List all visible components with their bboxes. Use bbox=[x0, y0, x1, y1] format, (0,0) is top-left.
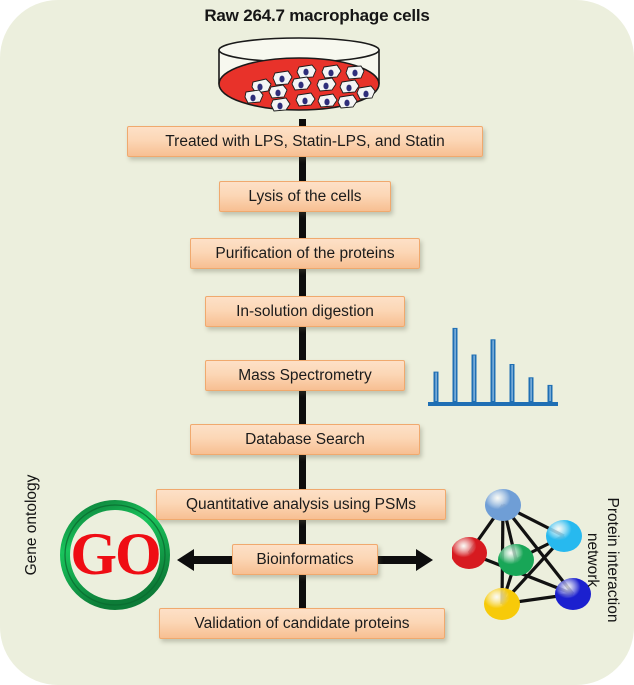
protein-network-label-line1: Protein interaction bbox=[602, 480, 622, 640]
protein-interaction-network bbox=[452, 482, 592, 624]
spectrum-peak-highlight bbox=[473, 356, 474, 402]
step-box-lysis[interactable]: Lysis of the cells bbox=[219, 181, 391, 212]
gene-ontology-label: Gene ontology bbox=[23, 467, 41, 583]
spectrum-peak-highlight bbox=[511, 365, 512, 401]
arrow-to-gene-ontology bbox=[176, 547, 232, 573]
page-title: Raw 264.7 macrophage cells bbox=[0, 6, 634, 26]
spectrum-peak-highlight bbox=[530, 378, 531, 401]
flow-connector bbox=[299, 327, 306, 362]
flow-connector bbox=[299, 269, 306, 298]
step-box-mass-spectrometry[interactable]: Mass Spectrometry bbox=[205, 360, 405, 391]
step-box-bioinformatics[interactable]: Bioinformatics bbox=[232, 544, 378, 575]
mass-spectrum-chart bbox=[428, 322, 558, 408]
step-box-quantitative-analysis[interactable]: Quantitative analysis using PSMs bbox=[156, 489, 446, 520]
node-yellow bbox=[484, 588, 520, 620]
spectrum-peak-highlight bbox=[454, 329, 455, 401]
step-box-treated[interactable]: Treated with LPS, Statin-LPS, and Statin bbox=[127, 126, 483, 157]
petri-dish-with-cells bbox=[215, 36, 383, 124]
flow-connector bbox=[299, 520, 306, 546]
node-blue-steel bbox=[485, 489, 521, 521]
spectrum-baseline bbox=[428, 402, 558, 406]
node-green bbox=[498, 544, 534, 576]
step-box-validation[interactable]: Validation of candidate proteins bbox=[159, 608, 445, 639]
step-box-purification[interactable]: Purification of the proteins bbox=[190, 238, 420, 269]
flow-connector bbox=[299, 157, 306, 183]
step-box-database-search[interactable]: Database Search bbox=[190, 424, 420, 455]
flow-connector bbox=[299, 212, 306, 240]
spectrum-peak-highlight bbox=[549, 386, 550, 401]
spectrum-peak-highlight bbox=[492, 340, 493, 401]
flow-connector bbox=[299, 575, 306, 610]
protein-network-label: Protein interaction network bbox=[582, 480, 622, 640]
protein-network-label-line2: network bbox=[582, 480, 602, 640]
node-red bbox=[452, 537, 487, 569]
gene-ontology-logo-text: GO bbox=[57, 497, 173, 613]
arrow-to-protein-network bbox=[378, 547, 434, 573]
gene-ontology-logo: GO bbox=[57, 497, 173, 613]
flow-connector bbox=[299, 455, 306, 491]
step-box-in-solution-digestion[interactable]: In-solution digestion bbox=[205, 296, 405, 327]
flow-connector bbox=[299, 391, 306, 426]
workflow-figure: Raw 264.7 macrophage cells bbox=[0, 0, 634, 685]
node-cyan bbox=[546, 520, 582, 552]
spectrum-peak-highlight bbox=[435, 373, 436, 401]
